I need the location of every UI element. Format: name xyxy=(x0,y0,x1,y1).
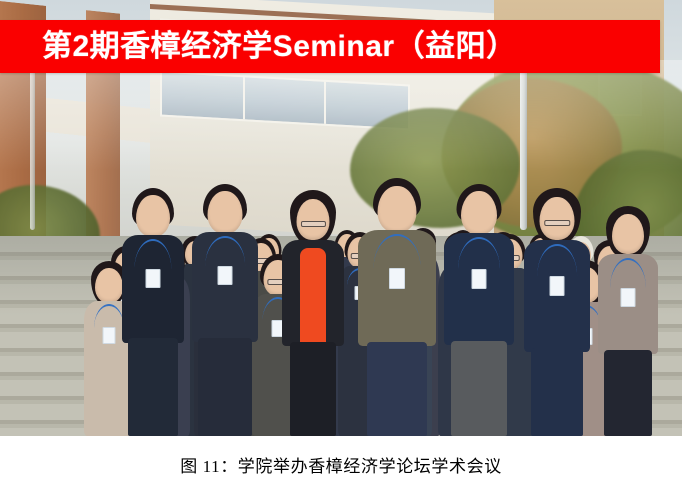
name-badge xyxy=(389,268,405,289)
name-badge xyxy=(472,269,487,289)
legs xyxy=(531,348,583,436)
torso xyxy=(122,235,184,343)
attendee-front xyxy=(282,190,344,436)
name-badge xyxy=(218,266,233,285)
name-badge xyxy=(550,276,565,296)
torso xyxy=(598,254,658,354)
event-banner: 第2期香樟经济学Seminar（益阳） xyxy=(0,20,660,73)
attendee-front xyxy=(524,188,590,436)
lanyard xyxy=(134,239,171,269)
torso xyxy=(358,230,436,346)
head xyxy=(612,214,644,254)
figure-photo: 第2期香樟经济学Seminar（益阳） xyxy=(0,0,682,436)
legs xyxy=(367,342,427,436)
attendee-front xyxy=(444,184,514,436)
lanyard xyxy=(94,304,124,328)
legs xyxy=(604,350,652,436)
legs xyxy=(451,341,507,436)
attendee-front xyxy=(598,206,658,436)
lanyard xyxy=(374,234,421,268)
attendee-front xyxy=(192,184,258,436)
lanyard xyxy=(537,244,577,276)
name-badge xyxy=(103,327,116,344)
name-badge xyxy=(146,269,161,288)
lanyard xyxy=(610,258,646,288)
eyeglasses xyxy=(300,221,325,227)
torso xyxy=(444,233,514,345)
legs xyxy=(198,338,252,436)
legs xyxy=(128,338,178,436)
figure-caption: 图 11：学院举办香樟经济学论坛学术会议 xyxy=(0,452,682,477)
attendee-front xyxy=(358,178,436,436)
head xyxy=(378,186,417,233)
torso xyxy=(524,240,590,352)
torso xyxy=(192,232,258,342)
head xyxy=(136,195,170,237)
head xyxy=(540,197,575,240)
legs xyxy=(290,342,336,436)
head xyxy=(95,268,123,303)
head xyxy=(461,191,497,235)
inner-top xyxy=(300,248,326,344)
attendee-front xyxy=(122,188,184,436)
head xyxy=(297,199,330,240)
lanyard xyxy=(205,236,245,266)
event-banner-text: 第2期香樟经济学Seminar（益阳） xyxy=(0,32,517,62)
name-badge xyxy=(621,288,636,307)
document-page: 第2期香樟经济学Seminar（益阳） 图 11：学院举办香樟经济学论坛学术会议 xyxy=(0,0,682,494)
head xyxy=(208,191,243,234)
eyeglasses xyxy=(544,220,571,226)
lanyard xyxy=(458,237,500,269)
